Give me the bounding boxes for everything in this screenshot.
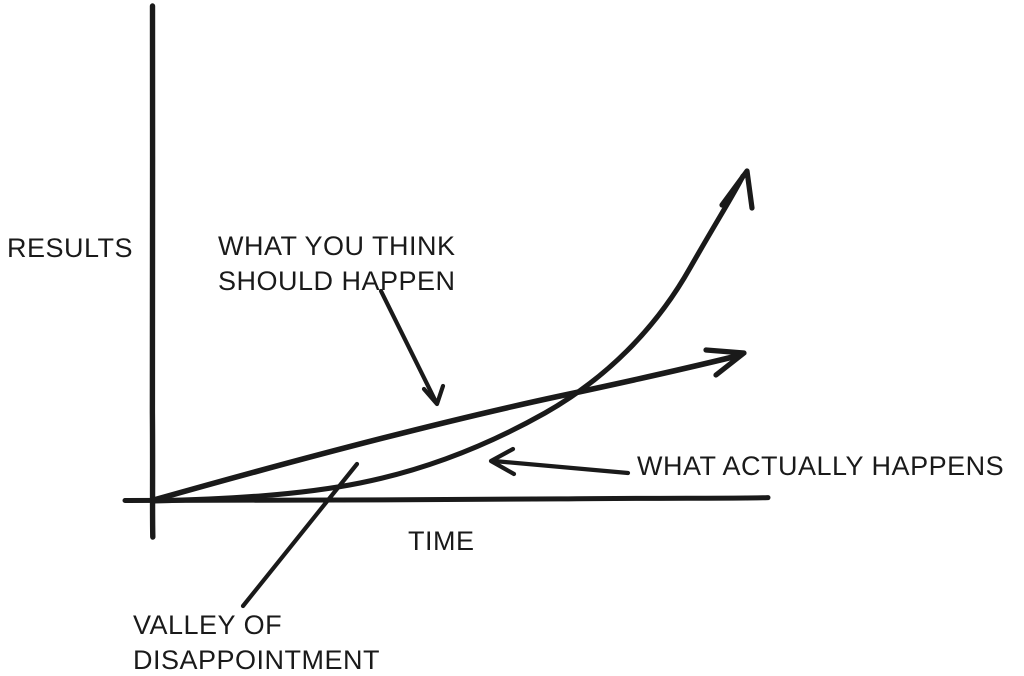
y-axis-line xyxy=(152,6,153,537)
valley-label-pointer-line xyxy=(243,464,357,606)
expected-curve-label-line1: WHAT YOU THINK xyxy=(218,231,456,261)
actual-curve-label: WHAT ACTUALLY HAPPENS xyxy=(637,449,1004,484)
diagram-canvas: RESULTS WHAT YOU THINK SHOULD HAPPEN WHA… xyxy=(0,0,1024,676)
y-axis-label: RESULTS xyxy=(7,231,133,266)
valley-label-line1: VALLEY OF xyxy=(133,610,282,640)
x-axis-label: TIME xyxy=(408,524,475,559)
expected-curve-label: WHAT YOU THINK SHOULD HAPPEN xyxy=(218,229,456,299)
expected-curve-label-line2: SHOULD HAPPEN xyxy=(218,266,456,296)
expected-label-arrow-shaft xyxy=(381,291,436,402)
growth-curve-illustration xyxy=(0,0,1024,676)
valley-of-disappointment-label: VALLEY OF DISAPPOINTMENT xyxy=(133,608,380,676)
valley-label-line2: DISAPPOINTMENT xyxy=(133,645,380,675)
actual-label-arrow-shaft xyxy=(494,461,628,473)
